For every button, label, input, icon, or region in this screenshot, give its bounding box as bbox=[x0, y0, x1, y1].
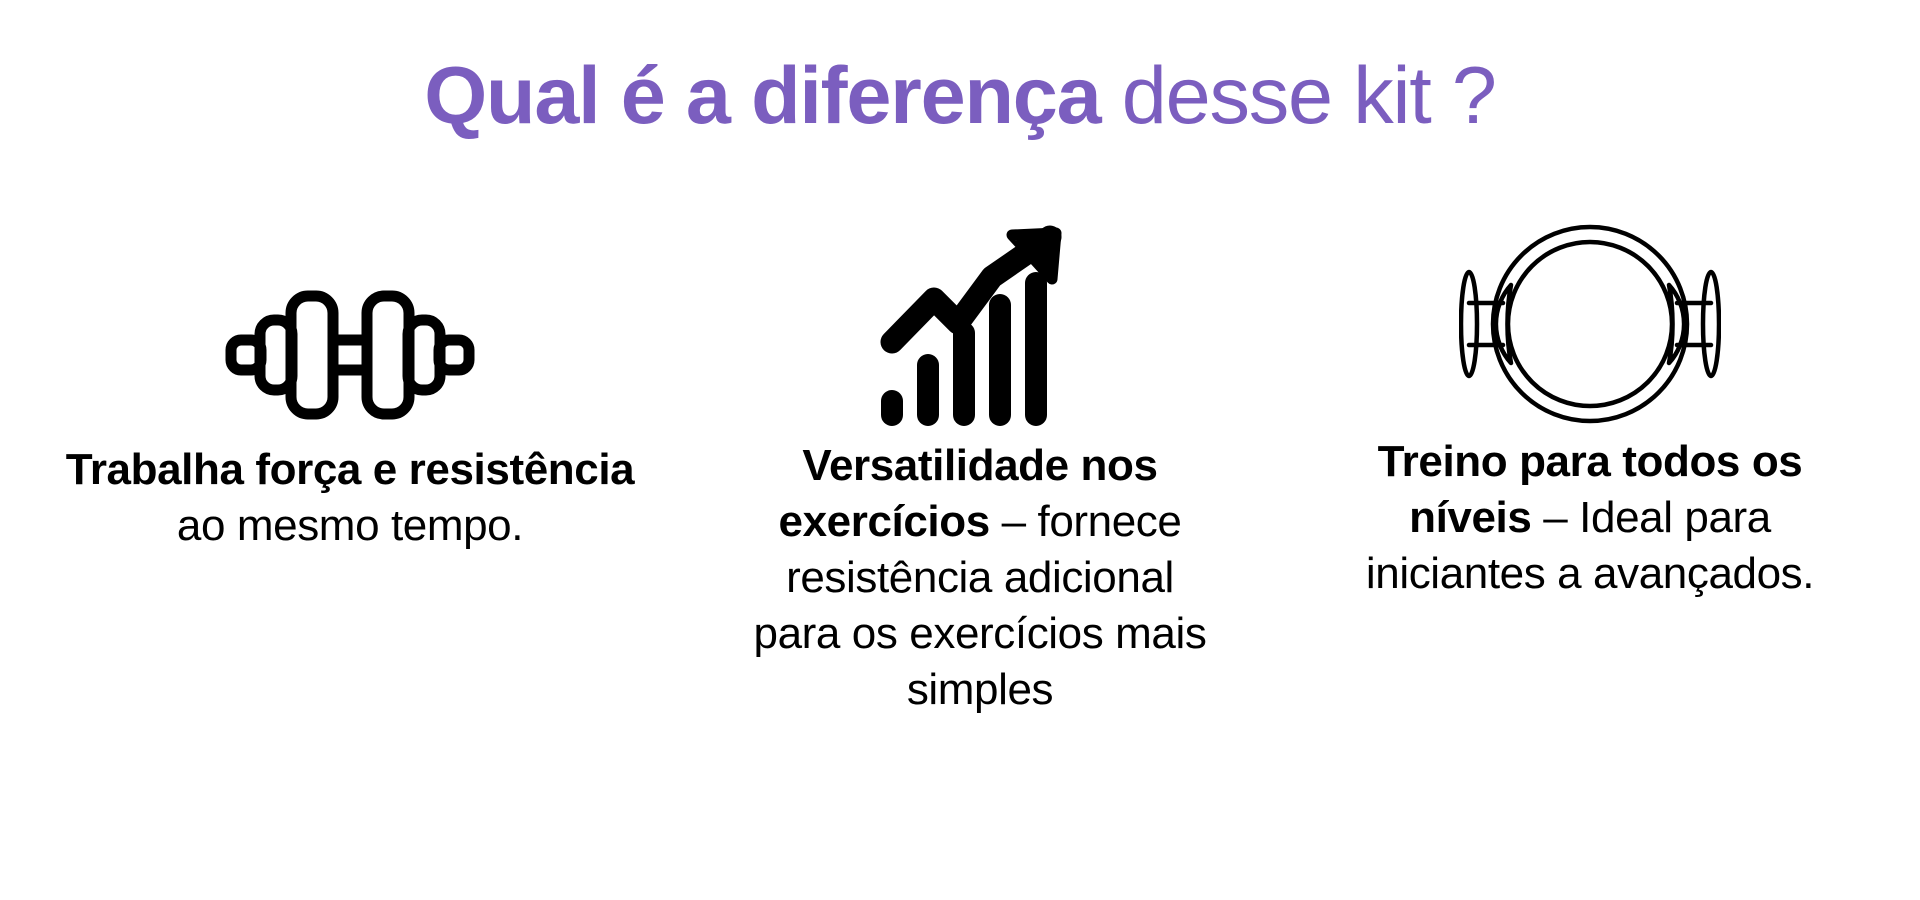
feature-column-1: Trabalha força e resistência ao mesmo te… bbox=[20, 215, 680, 554]
feature-column-2: Versatilidade nos exercícios – fornece r… bbox=[680, 215, 1280, 717]
promo-banner: Qual é a diferença desse kit ? bbox=[0, 0, 1920, 900]
feature-text-1: Trabalha força e resistência ao mesmo te… bbox=[60, 442, 640, 554]
growth-chart-icon-container bbox=[880, 215, 1080, 430]
title-light-part: desse kit ? bbox=[1100, 51, 1495, 141]
title-text: Qual é a diferença desse kit ? bbox=[424, 54, 1496, 139]
pilates-ring-icon bbox=[1459, 218, 1721, 430]
feature-column-3: Treino para todos os níveis – Ideal para… bbox=[1280, 215, 1900, 602]
feature-text-3: Treino para todos os níveis – Ideal para… bbox=[1330, 434, 1850, 602]
feature-text-2: Versatilidade nos exercícios – fornece r… bbox=[745, 438, 1215, 717]
title-bold-part: Qual é a diferença bbox=[424, 51, 1100, 141]
feature-strong-1: Trabalha força e resistência bbox=[66, 445, 634, 494]
page-title: Qual é a diferença desse kit ? bbox=[0, 54, 1920, 139]
dumbbell-icon bbox=[225, 280, 475, 430]
growth-chart-icon bbox=[880, 225, 1080, 430]
feature-columns: Trabalha força e resistência ao mesmo te… bbox=[0, 215, 1920, 717]
feature-rest-1: ao mesmo tempo. bbox=[177, 501, 523, 550]
dumbbell-icon-container bbox=[225, 215, 475, 430]
pilates-ring-icon-container bbox=[1459, 215, 1721, 430]
